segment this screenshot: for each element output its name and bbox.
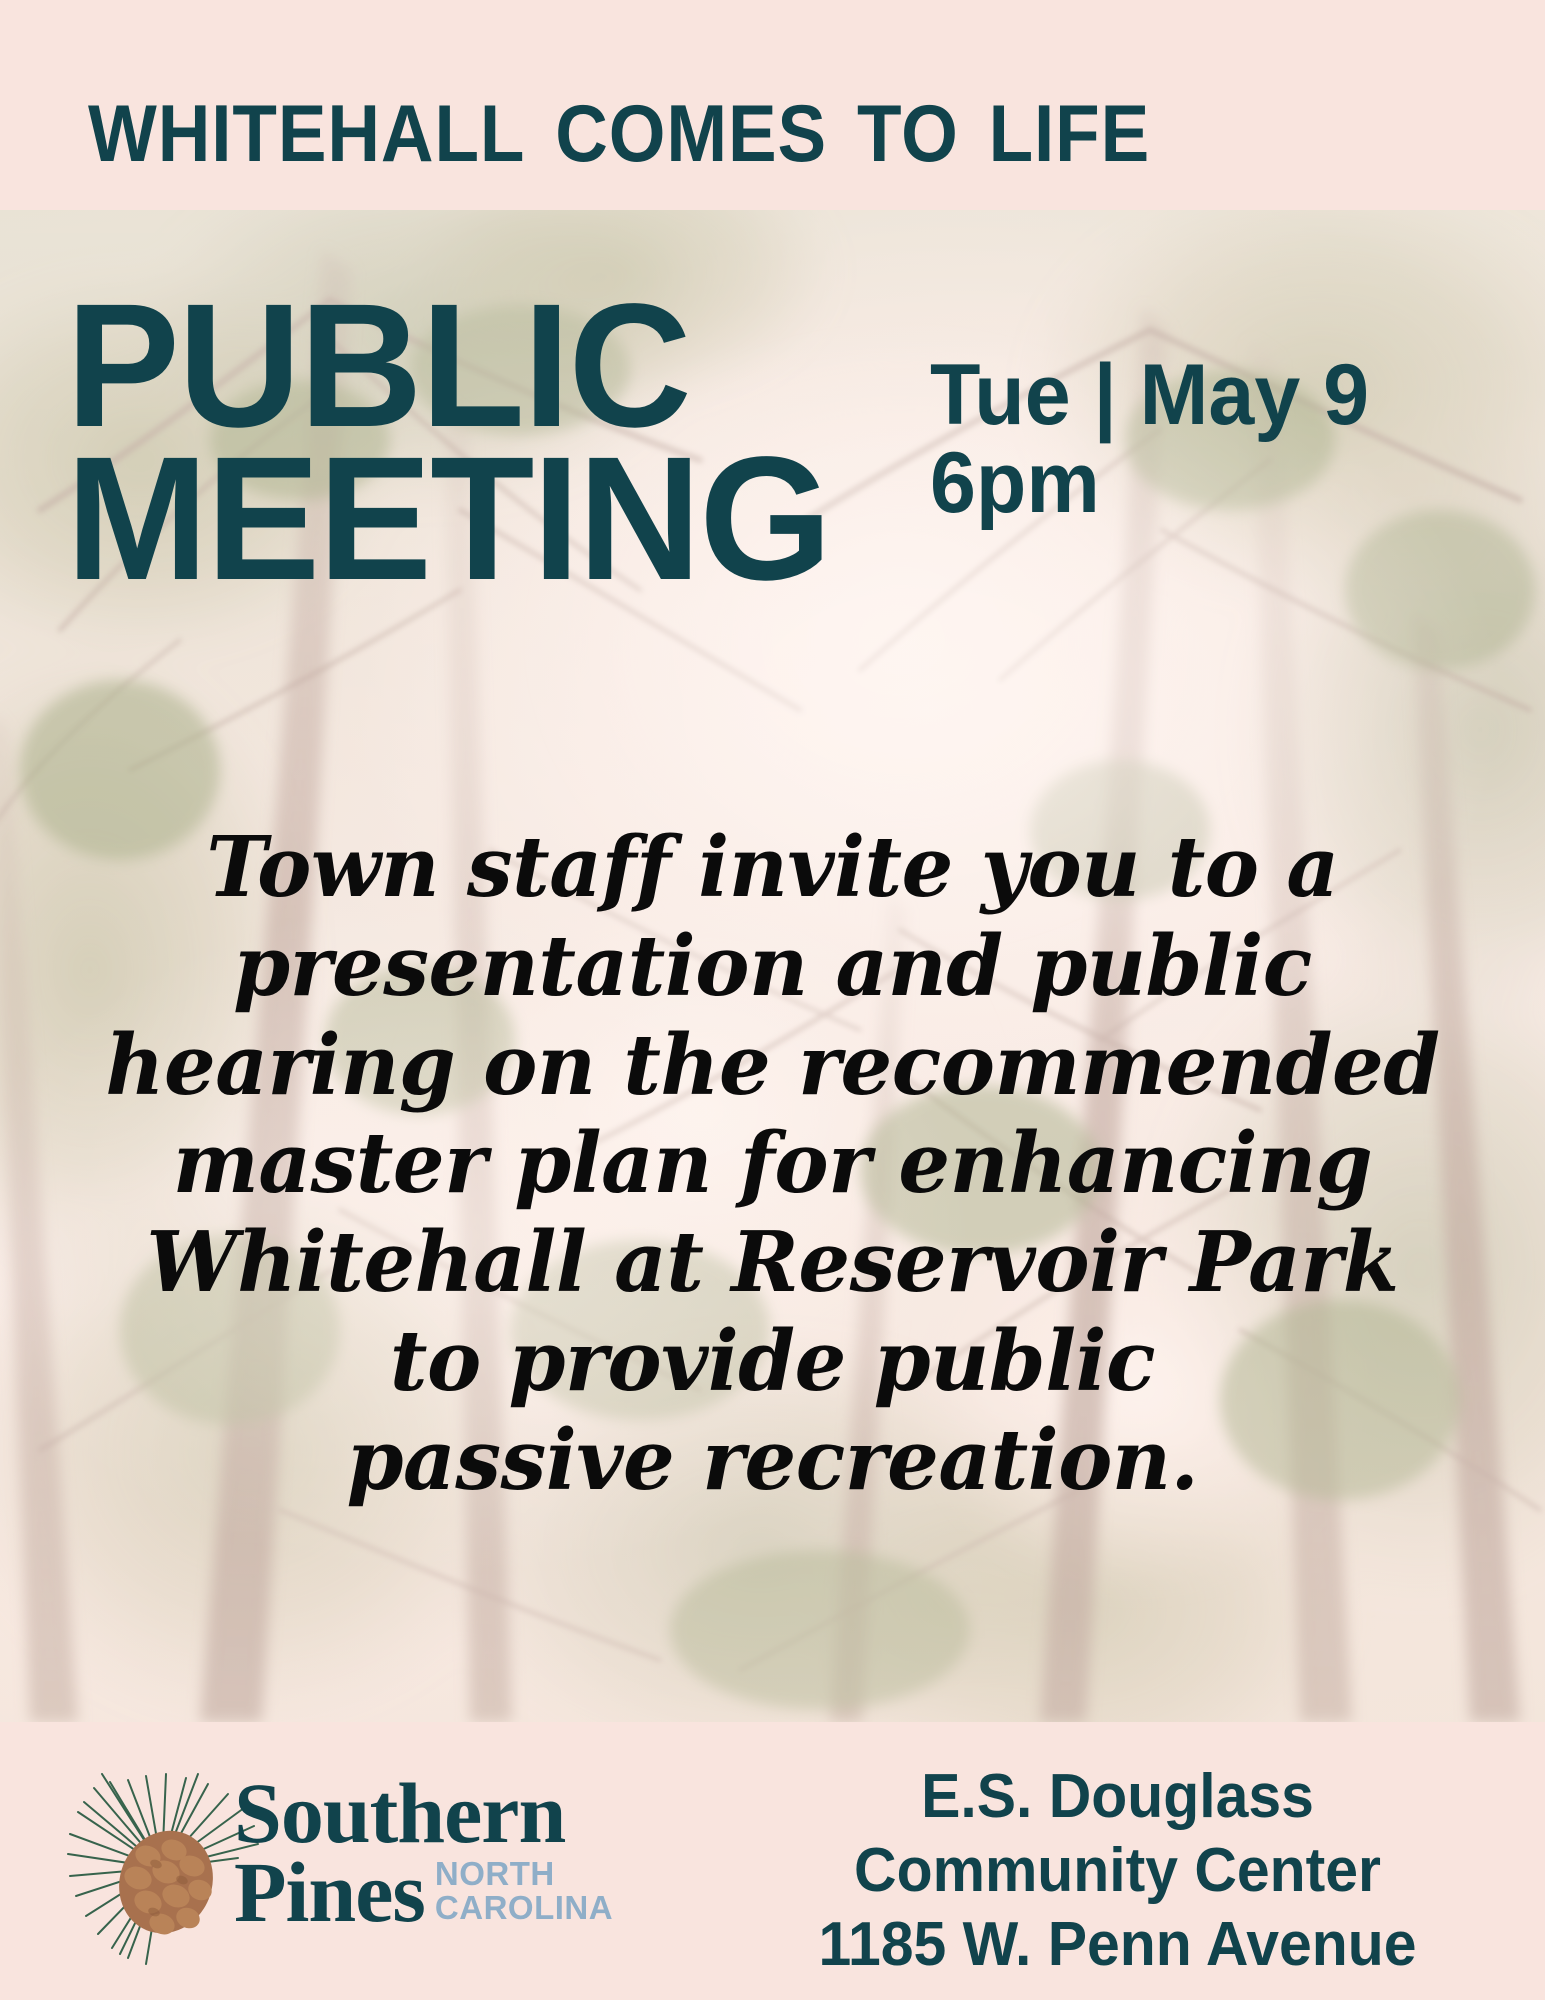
- event-time: 6pm: [930, 440, 1369, 528]
- body-line: Town staff invite you to a: [15, 818, 1529, 917]
- logo-state-label: NORTH CAROLINA: [435, 1857, 613, 1932]
- venue-line: E.S. Douglass: [721, 1760, 1514, 1834]
- southern-pines-logo: Southern Pines NORTH CAROLINA: [62, 1762, 682, 1972]
- pinecone-with-needles-icon: [62, 1768, 262, 1968]
- page-title: Whitehall Comes to Life: [88, 63, 1150, 179]
- event-datetime: Tue | May 9 6pm: [930, 352, 1369, 527]
- body-line: master plan for enhancing: [15, 1114, 1529, 1213]
- body-line: passive recreation.: [15, 1411, 1529, 1510]
- venue-address: E.S. Douglass Community Center 1185 W. P…: [721, 1760, 1514, 1981]
- body-copy: Town staff invite you to a presentation …: [15, 818, 1529, 1509]
- logo-line-southern: Southern: [234, 1774, 684, 1853]
- body-line: Whitehall at Reservoir Park: [15, 1213, 1529, 1312]
- venue-line: 1185 W. Penn Avenue: [721, 1908, 1514, 1982]
- poster: Whitehall Comes to Life PUBLIC MEETING T…: [0, 0, 1545, 2000]
- event-date: Tue | May 9: [930, 347, 1369, 443]
- logo-pines-row: Pines NORTH CAROLINA: [234, 1853, 684, 1932]
- logo-wordmark: Southern Pines NORTH CAROLINA: [234, 1774, 684, 1932]
- body-line: hearing on the recommended: [15, 1016, 1529, 1115]
- venue-line: Community Center: [721, 1834, 1514, 1908]
- body-line: to provide public: [15, 1312, 1529, 1411]
- logo-line-pines: Pines: [234, 1853, 425, 1932]
- body-line: presentation and public: [15, 917, 1529, 1016]
